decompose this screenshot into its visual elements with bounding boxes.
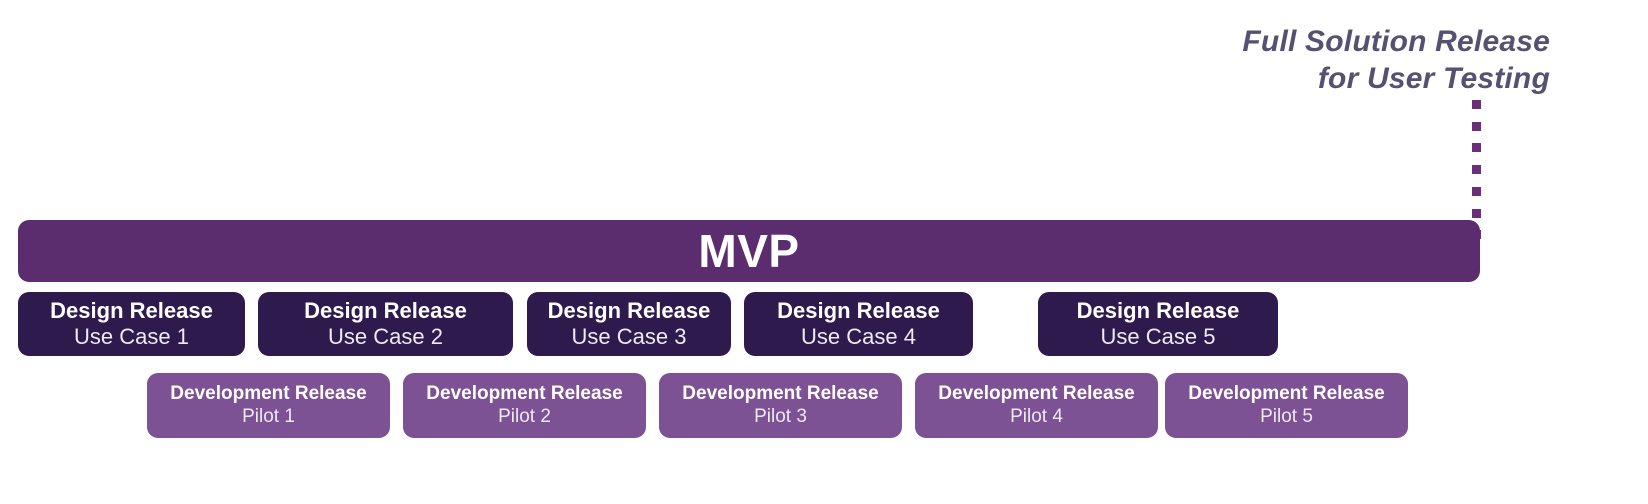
design-release-card-subtitle: Use Case 4 (801, 324, 916, 349)
development-release-card-title: Development Release (426, 383, 622, 404)
design-release-card-title: Design Release (304, 299, 467, 324)
design-release-card-1[interactable]: Design ReleaseUse Case 1 (18, 292, 245, 356)
design-release-card-title: Design Release (1077, 299, 1240, 324)
design-release-card-4[interactable]: Design ReleaseUse Case 4 (744, 292, 973, 356)
design-release-card-2[interactable]: Design ReleaseUse Case 2 (258, 292, 513, 356)
connector-dot (1472, 209, 1481, 218)
development-release-card-4[interactable]: Development ReleasePilot 4 (915, 373, 1158, 438)
development-release-card-5[interactable]: Development ReleasePilot 5 (1165, 373, 1408, 438)
development-release-card-3[interactable]: Development ReleasePilot 3 (659, 373, 902, 438)
design-release-card-title: Design Release (50, 299, 213, 324)
development-release-card-2[interactable]: Development ReleasePilot 2 (403, 373, 646, 438)
design-release-card-subtitle: Use Case 1 (74, 324, 189, 349)
development-release-card-subtitle: Pilot 5 (1260, 406, 1313, 428)
development-release-card-subtitle: Pilot 2 (498, 406, 551, 428)
design-release-card-subtitle: Use Case 3 (572, 324, 687, 349)
development-release-card-title: Development Release (938, 383, 1134, 404)
connector-dot (1472, 100, 1481, 109)
development-release-card-title: Development Release (170, 383, 366, 404)
connector-dot (1472, 187, 1481, 196)
design-release-card-subtitle: Use Case 2 (328, 324, 443, 349)
development-release-card-title: Development Release (682, 383, 878, 404)
design-release-card-subtitle: Use Case 5 (1101, 324, 1216, 349)
design-release-card-title: Design Release (777, 299, 940, 324)
development-release-card-subtitle: Pilot 3 (754, 406, 807, 428)
development-release-card-title: Development Release (1188, 383, 1384, 404)
connector-dot (1472, 122, 1481, 131)
development-release-card-1[interactable]: Development ReleasePilot 1 (147, 373, 390, 438)
connector-dot (1472, 143, 1481, 152)
design-release-card-title: Design Release (548, 299, 711, 324)
mvp-bar[interactable]: MVP (18, 220, 1480, 282)
mvp-label: MVP (698, 228, 799, 274)
connector-dot (1472, 165, 1481, 174)
design-release-card-5[interactable]: Design ReleaseUse Case 5 (1038, 292, 1278, 356)
roadmap-diagram: Full Solution Release for User Testing M… (0, 0, 1648, 504)
development-release-card-subtitle: Pilot 4 (1010, 406, 1063, 428)
design-release-card-3[interactable]: Design ReleaseUse Case 3 (527, 292, 731, 356)
full-solution-release-annotation: Full Solution Release for User Testing (1120, 24, 1550, 97)
development-release-card-subtitle: Pilot 1 (242, 406, 295, 428)
